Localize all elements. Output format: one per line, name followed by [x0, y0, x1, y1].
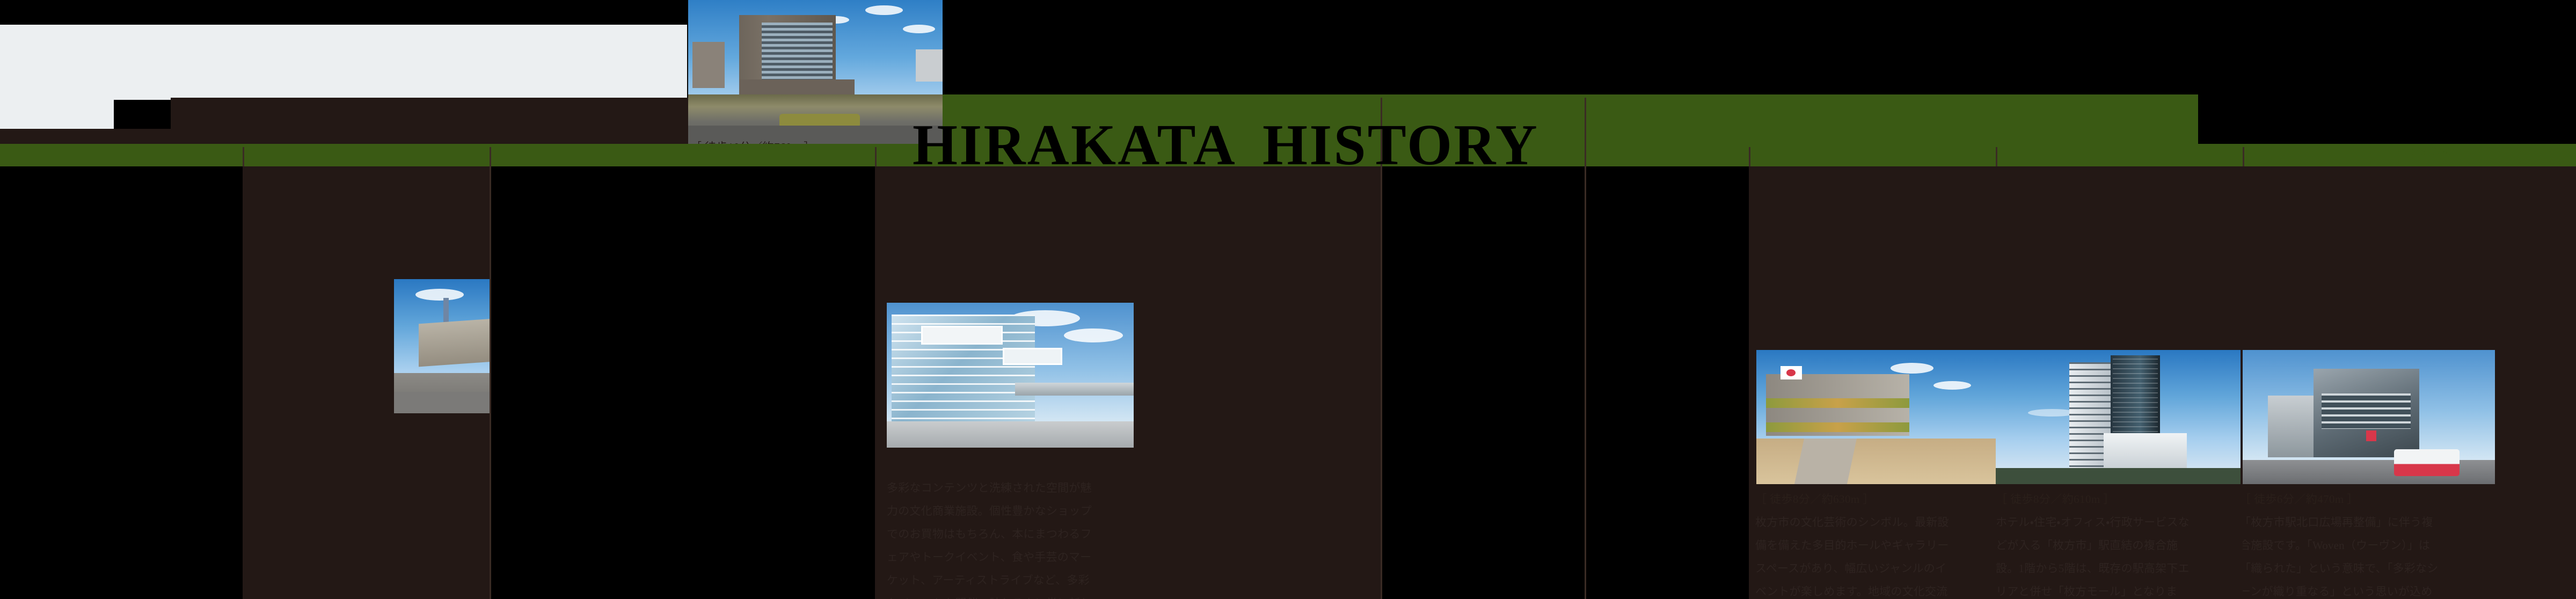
facility-card[interactable]: 多彩なコンテンツと洗練された空間が魅力の文化商業施設。個性豊かなショップでのお買… [875, 166, 1381, 599]
card-description: 多彩なコンテンツと洗練された空間が魅力の文化商業施設。個性豊かなショップでのお買… [887, 477, 1099, 599]
hirakata-life-information-page: ［ 徒歩10分／約760m ］ HIRAKATA HISTORY in the … [0, 0, 2576, 599]
card-photo-civic-hall [394, 279, 490, 413]
card-walk-distance: ［ 徒歩8分／約610m ］ [1996, 491, 2115, 507]
facility-card[interactable]: ［ 徒歩8分／約630m ］ 枚方市の文化芸術のシンボル。最新設備を備えた多目的… [1749, 166, 1996, 599]
facility-card-grid: 多彩なコンテンツと洗練された空間が魅力の文化商業施設。個性豊かなショップでのお買… [0, 166, 2576, 599]
facility-card[interactable] [243, 166, 490, 599]
page-title: HIRAKATA HISTORY [913, 127, 1539, 170]
page-title-subtext: in the Town [2399, 144, 2454, 158]
card-walk-distance: ［ 徒歩6分／約470m ］ [2243, 491, 2359, 507]
card-photo-city-hall [1756, 350, 1996, 484]
page-title-word-2: HISTORY [1263, 122, 1539, 170]
card-photo-t-site [887, 303, 1134, 448]
hero-photo-kansai-medical-university [688, 0, 943, 144]
card-description: ホテル・住宅・オフィス・行政サービスなどが入る「枚方市」駅直結の複合施設。1階か… [1996, 511, 2199, 599]
card-photo-woven [2243, 350, 2495, 484]
card-photo-tower-residence [1996, 350, 2241, 484]
facility-card[interactable]: ［ 徒歩8分／約610m ］ ホテル・住宅・オフィス・行政サービスなどが入る「枚… [1996, 166, 2243, 599]
card-walk-distance: ［ 徒歩8分／約630m ］ [1755, 491, 1874, 507]
facility-card[interactable]: ［ 徒歩6分／約470m ］ 「枚方市駅北口広場再整備」に伴う複合施設です。「W… [2243, 166, 2576, 599]
card-description: 枚方市の文化芸術のシンボル。最新設備を備えた多目的ホールやギャラリースペースがあ… [1755, 511, 1954, 599]
page-title-word-1: HIRAKATA [913, 122, 1237, 170]
card-description: 「枚方市駅北口広場再整備」に伴う複合施設です。「Woven（ウーヴン）」は「織ら… [2243, 511, 2442, 599]
